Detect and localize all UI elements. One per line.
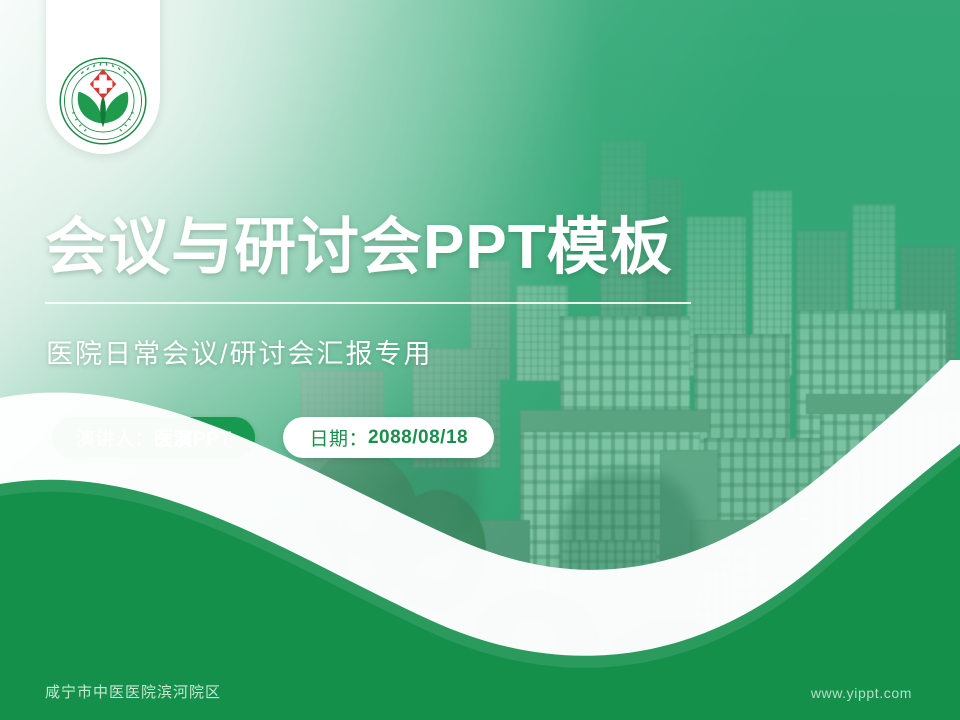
wave-decoration — [0, 360, 960, 720]
hospital-emblem-icon — [56, 54, 150, 148]
logo-tab-panel — [46, 0, 160, 154]
footer-website[interactable]: www.yippt.com — [811, 685, 912, 701]
presentation-cover-slide: 会议与研讨会PPT模板 医院日常会议/研讨会汇报专用 演讲人：医演PPT 日期：… — [0, 0, 960, 720]
footer-organization: 咸宁市中医医院滨河院区 — [45, 681, 221, 702]
page-title: 会议与研讨会PPT模板 — [45, 217, 673, 279]
title-divider — [45, 302, 691, 304]
